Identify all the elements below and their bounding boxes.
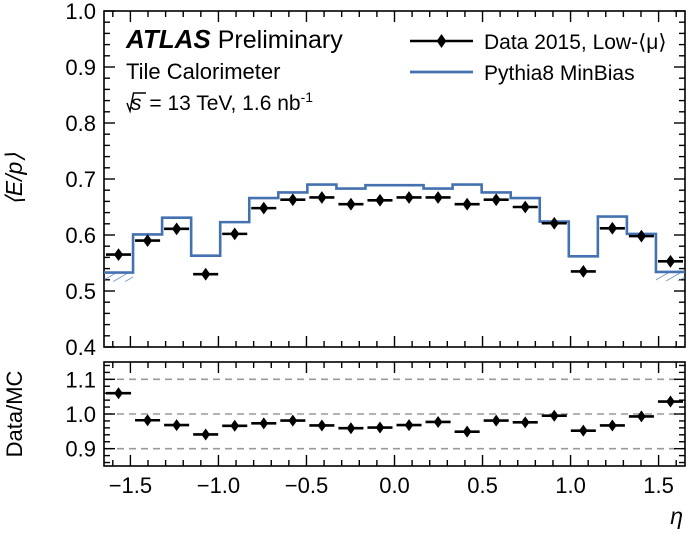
data-marker-18 [637, 230, 646, 243]
data-marker-1 [143, 234, 152, 247]
ratio-marker-0 [114, 387, 123, 399]
y-axis-title-ratio: Data/MC [2, 370, 27, 457]
data-marker-13 [492, 193, 501, 206]
ratio-marker-10 [405, 419, 414, 431]
ratio-marker-9 [376, 422, 385, 434]
ratio-marker-2 [172, 419, 181, 431]
ytick-label-main-0: 0.4 [65, 335, 96, 360]
ratio-marker-13 [492, 415, 501, 427]
ratio-marker-8 [347, 422, 356, 434]
ratio-marker-7 [318, 419, 327, 431]
lumi-exponent: -1 [301, 89, 314, 105]
luminosity-label-group: s = 13 TeV, 1.6 nb-1 [131, 89, 313, 115]
ratio-marker-12 [463, 426, 472, 438]
ytick-label-main-4: 0.8 [65, 111, 96, 136]
xtick-label-0: −1.5 [109, 473, 152, 498]
ytick-label-main-2: 0.6 [65, 223, 96, 248]
atlas-label-group: ATLASPreliminary [125, 24, 343, 54]
mc-uncertainty-band-0 [104, 273, 133, 282]
legend-marker-point-0 [437, 34, 447, 48]
physics-plot-figure: 0.40.50.60.70.80.91.00.91.01.1−1.5−1.0−0… [0, 0, 692, 536]
ratio-marker-19 [666, 396, 675, 408]
tile-calorimeter-label: Tile Calorimeter [126, 59, 280, 84]
xtick-label-4: 0.5 [467, 473, 498, 498]
atlas-label: ATLAS [125, 24, 211, 54]
legend-label-0: Data 2015, Low-⟨μ⟩ [484, 31, 667, 54]
ytick-label-main-6: 1.0 [65, 0, 96, 24]
plot-root: 0.40.50.60.70.80.91.00.91.01.1−1.5−1.0−0… [0, 0, 692, 536]
x-axis-title: η [670, 503, 683, 529]
data-marker-14 [521, 201, 530, 214]
data-marker-15 [550, 217, 559, 230]
xtick-label-1: −1.0 [197, 473, 240, 498]
data-marker-3 [201, 268, 210, 281]
data-marker-19 [666, 255, 675, 268]
sqrt-s-equals: = [144, 92, 168, 115]
xtick-label-5: 1.0 [555, 473, 586, 498]
data-marker-7 [317, 191, 326, 204]
data-marker-17 [608, 222, 617, 235]
ytick-label-main-3: 0.7 [65, 167, 96, 192]
ytick-label-main-1: 0.5 [65, 279, 96, 304]
xtick-label-6: 1.5 [643, 473, 674, 498]
data-marker-9 [375, 194, 384, 207]
data-marker-11 [433, 191, 442, 204]
ytick-label-ratio-2: 1.1 [65, 367, 96, 392]
preliminary-label: Preliminary [218, 26, 344, 54]
y-axis-title-main: ⟨E/p⟩ [1, 153, 27, 205]
energy-lumi-value: 13 TeV, 1.6 nb [167, 92, 300, 115]
data-marker-12 [463, 198, 472, 211]
data-marker-0 [114, 248, 123, 261]
ytick-label-ratio-0: 0.9 [65, 437, 96, 462]
ratio-marker-15 [550, 410, 559, 422]
ratio-marker-17 [608, 419, 617, 431]
data-marker-4 [230, 227, 239, 240]
data-marker-10 [404, 191, 413, 204]
ratio-marker-16 [579, 425, 588, 437]
data-marker-8 [346, 198, 355, 211]
mc-step-histogram [104, 185, 685, 273]
ratio-marker-3 [201, 428, 210, 440]
legend-label-1: Pythia8 MinBias [484, 62, 635, 85]
data-series-main [106, 191, 683, 281]
ratio-marker-11 [434, 416, 443, 428]
ytick-label-ratio-1: 1.0 [65, 402, 96, 427]
data-marker-5 [259, 202, 268, 215]
data-marker-2 [172, 222, 181, 235]
ratio-marker-6 [289, 415, 298, 427]
ratio-marker-1 [143, 414, 152, 426]
ytick-label-main-5: 0.9 [65, 55, 96, 80]
ratio-marker-4 [230, 420, 239, 432]
xtick-label-3: 0.0 [379, 473, 410, 498]
ratio-marker-14 [521, 416, 530, 428]
ratio-marker-18 [637, 410, 646, 422]
data-marker-6 [288, 193, 297, 206]
mc-uncertainty-band-1 [656, 272, 685, 281]
xtick-label-2: −0.5 [285, 473, 328, 498]
ratio-marker-5 [259, 417, 268, 429]
data-marker-16 [579, 265, 588, 278]
